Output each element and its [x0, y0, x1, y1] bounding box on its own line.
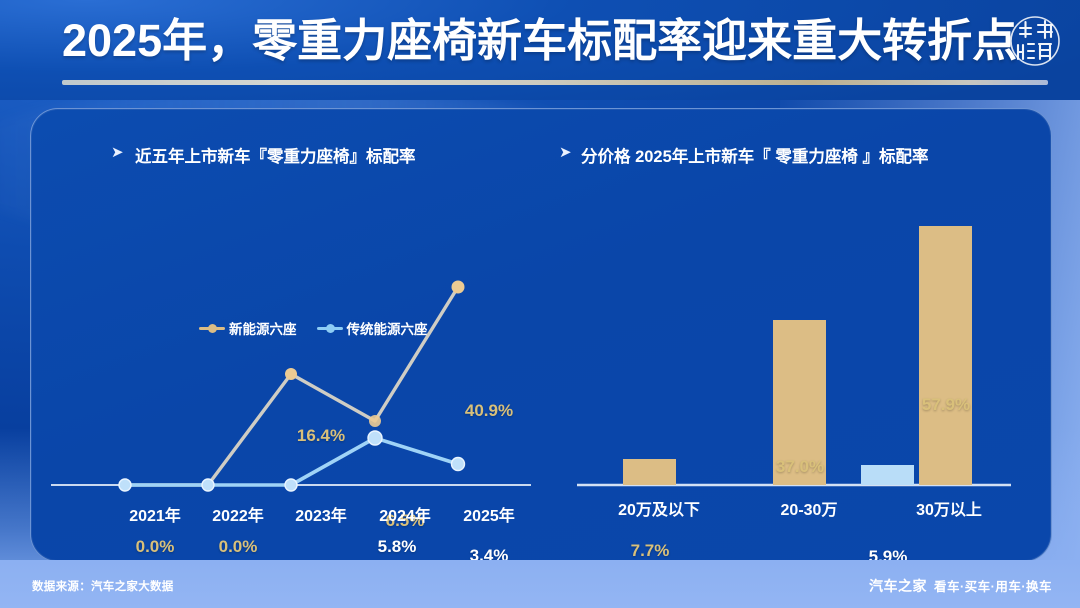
- series-line-new-energy: [125, 287, 458, 485]
- series-points-new-energy: [285, 281, 465, 428]
- brand-slogan: 看车·买车·用车·换车: [934, 576, 1052, 595]
- line-chart-plot: 0.0% 0.0% 16.4% 6.5% 40.9% 0.0% 0.0% 0.0…: [31, 109, 541, 561]
- data-label-new-energy-30above: 57.9%: [922, 395, 970, 415]
- panel-line-chart: ➤ 近五年上市新车『零重力座椅』标配率 新能源六座 传统能源六座: [31, 109, 541, 561]
- data-label-new-energy-2022: 0.0%: [219, 537, 258, 557]
- bar-chart-plot: 0.0% 7.7% 0.0% 37.0% 5.9% 57.9% 20万及以下 2…: [541, 109, 1051, 561]
- x-axis-label-2025: 2025年: [463, 502, 515, 526]
- slide-root: 2025年，零重力座椅新车标配率迎来重大转折点 ➤ 近五年上市新车『零重力座椅』…: [0, 0, 1080, 608]
- data-label-new-energy-20below: 7.7%: [631, 541, 670, 561]
- panel-bar-chart: ➤ 分价格 2025年上市新车『 零重力座椅 』标配率 传统能源 新能源: [541, 109, 1051, 561]
- series-points-traditional: [119, 431, 465, 491]
- bar-new-energy-30above: [919, 226, 972, 485]
- x-axis-label-2021: 2021年: [129, 502, 181, 526]
- x-axis-label-2024: 2024年: [379, 502, 431, 526]
- seal-logo-icon: [1006, 10, 1064, 72]
- x-axis-label-30above: 30万以上: [916, 496, 982, 520]
- x-axis-label-2022: 2022年: [212, 502, 264, 526]
- bar-traditional-30above: [861, 465, 914, 485]
- data-label-new-energy-2025: 40.9%: [465, 401, 513, 421]
- line-chart-svg: [31, 109, 541, 561]
- data-source-text: 数据来源：汽车之家大数据: [32, 578, 174, 594]
- data-label-traditional-2024: 5.8%: [378, 537, 417, 557]
- footer-brand: 汽车之家 看车·买车·用车·换车: [869, 576, 1052, 596]
- x-axis-label-20below: 20万及以下: [618, 496, 700, 520]
- data-label-new-energy-2021: 0.0%: [136, 537, 175, 557]
- x-axis-label-2023: 2023年: [295, 502, 347, 526]
- header-bar: 2025年，零重力座椅新车标配率迎来重大转折点: [0, 0, 1080, 100]
- title-divider: [62, 80, 1048, 85]
- page-title: 2025年，零重力座椅新车标配率迎来重大转折点: [62, 13, 1017, 69]
- bar-chart-svg: [541, 109, 1051, 561]
- content-card: ➤ 近五年上市新车『零重力座椅』标配率 新能源六座 传统能源六座: [30, 108, 1052, 562]
- data-label-new-energy-20to30: 37.0%: [776, 457, 824, 477]
- brand-name: 汽车之家: [869, 576, 927, 596]
- data-label-new-energy-2023: 16.4%: [297, 426, 345, 446]
- x-axis-label-20to30: 20-30万: [781, 496, 838, 520]
- bar-new-energy-20below: [623, 459, 676, 485]
- series-line-traditional: [125, 438, 458, 485]
